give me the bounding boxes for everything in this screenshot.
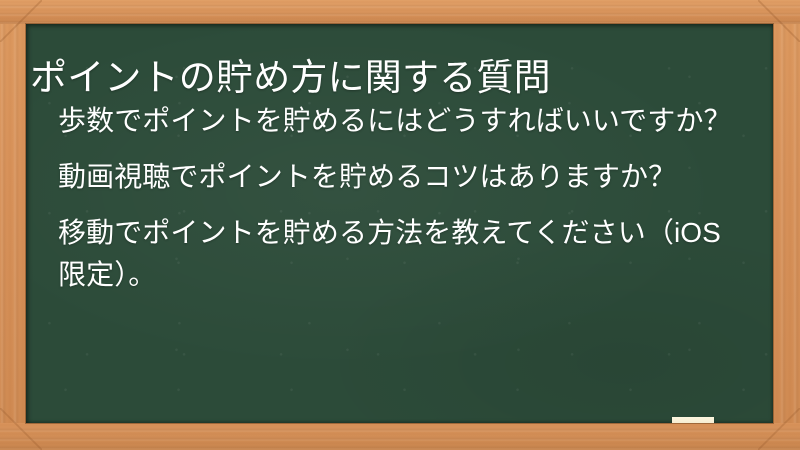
list-item-question-1: 歩数でポイントを貯めるにはどうすればいいですか？: [58, 100, 748, 142]
chalkboard-slide: ポイントの貯め方に関する質問 歩数でポイントを貯めるにはどうすればいいですか？ …: [0, 0, 800, 450]
chalkboard-surface: ポイントの貯め方に関する質問 歩数でポイントを貯めるにはどうすればいいですか？ …: [26, 24, 773, 423]
list-item-question-2: 動画視聴でポイントを貯めるコツはありますか？: [58, 156, 748, 198]
question-list: 歩数でポイントを貯めるにはどうすればいいですか？ 動画視聴でポイントを貯めるコツ…: [58, 100, 748, 296]
list-item-question-3: 移動でポイントを貯める方法を教えてください（iOS限定）。: [58, 212, 748, 296]
frame-rail-bottom: [0, 423, 800, 450]
chalk-stick-icon: [672, 417, 714, 423]
slide-content: ポイントの貯め方に関する質問 歩数でポイントを貯めるにはどうすればいいですか？ …: [26, 24, 773, 423]
slide-title: ポイントの貯め方に関する質問: [30, 55, 760, 100]
frame-rail-top: [0, 0, 800, 24]
